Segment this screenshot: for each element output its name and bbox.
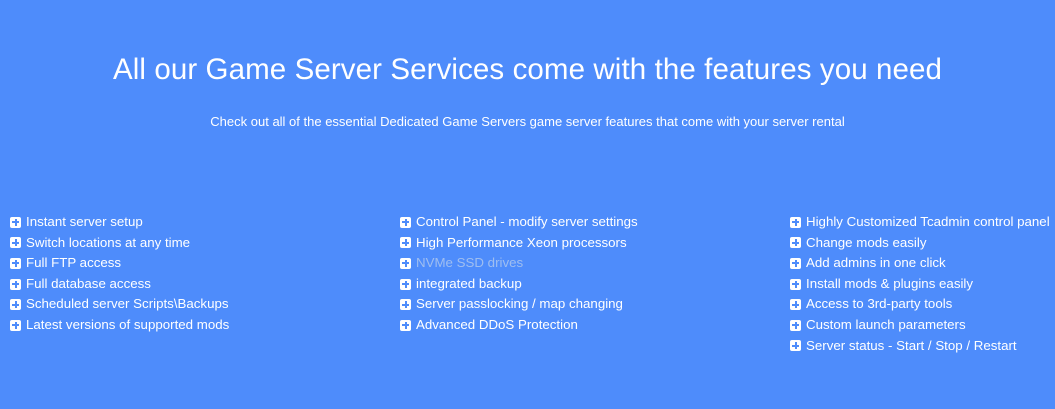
feature-column-1: Instant server setupSwitch locations at … [10, 212, 390, 336]
plus-square-icon [790, 320, 801, 331]
plus-square-icon [790, 340, 801, 351]
feature-item-label: Server status - Start / Stop / Restart [806, 336, 1017, 357]
game-server-features-panel: All our Game Server Services come with t… [0, 0, 1055, 409]
plus-square-icon [10, 320, 21, 331]
plus-square-icon [400, 299, 411, 310]
plus-square-icon [400, 279, 411, 290]
feature-item-label: Install mods & plugins easily [806, 274, 973, 295]
feature-item[interactable]: Latest versions of supported mods [10, 315, 390, 336]
feature-item[interactable]: Add admins in one click [790, 253, 1055, 274]
feature-item-label: Latest versions of supported mods [26, 315, 229, 336]
feature-column-2: Control Panel - modify server settingsHi… [400, 212, 780, 336]
feature-item[interactable]: Advanced DDoS Protection [400, 315, 780, 336]
feature-item-label: Advanced DDoS Protection [416, 315, 578, 336]
feature-item[interactable]: Install mods & plugins easily [790, 274, 1055, 295]
plus-square-icon [790, 258, 801, 269]
plus-square-icon [10, 237, 21, 248]
feature-item-label: Switch locations at any time [26, 233, 190, 254]
page-title: All our Game Server Services come with t… [0, 50, 1055, 90]
plus-square-icon [790, 279, 801, 290]
feature-item[interactable]: Custom launch parameters [790, 315, 1055, 336]
feature-item-label: Custom launch parameters [806, 315, 966, 336]
feature-item-label: Scheduled server Scripts\Backups [26, 294, 229, 315]
feature-item[interactable]: Scheduled server Scripts\Backups [10, 294, 390, 315]
plus-square-icon [10, 217, 21, 228]
feature-item[interactable]: Server status - Start / Stop / Restart [790, 336, 1055, 357]
plus-square-icon [790, 299, 801, 310]
feature-item[interactable]: integrated backup [400, 274, 780, 295]
plus-square-icon [10, 279, 21, 290]
feature-item-label: Change mods easily [806, 233, 926, 254]
feature-item[interactable]: Full database access [10, 274, 390, 295]
plus-square-icon [400, 320, 411, 331]
plus-square-icon [400, 237, 411, 248]
feature-item-label: Instant server setup [26, 212, 143, 233]
feature-item-label: Server passlocking / map changing [416, 294, 623, 315]
feature-item-label: Full FTP access [26, 253, 121, 274]
feature-item-label: Access to 3rd-party tools [806, 294, 952, 315]
feature-item[interactable]: Highly Customized Tcadmin control panel [790, 212, 1055, 233]
plus-square-icon [400, 217, 411, 228]
feature-item[interactable]: Access to 3rd-party tools [790, 294, 1055, 315]
feature-item[interactable]: NVMe SSD drives [400, 253, 780, 274]
plus-square-icon [790, 237, 801, 248]
plus-square-icon [400, 258, 411, 269]
feature-item[interactable]: Change mods easily [790, 233, 1055, 254]
feature-item-label: integrated backup [416, 274, 522, 295]
plus-square-icon [790, 217, 801, 228]
feature-item[interactable]: Server passlocking / map changing [400, 294, 780, 315]
plus-square-icon [10, 258, 21, 269]
feature-column-3: Highly Customized Tcadmin control panelC… [790, 212, 1055, 356]
plus-square-icon [10, 299, 21, 310]
feature-item-label: Add admins in one click [806, 253, 946, 274]
feature-item-label: Control Panel - modify server settings [416, 212, 638, 233]
feature-item-label: Highly Customized Tcadmin control panel [806, 212, 1050, 233]
feature-item[interactable]: Switch locations at any time [10, 233, 390, 254]
page-subtitle: Check out all of the essential Dedicated… [0, 113, 1055, 130]
feature-item[interactable]: Full FTP access [10, 253, 390, 274]
feature-item[interactable]: Control Panel - modify server settings [400, 212, 780, 233]
feature-item[interactable]: High Performance Xeon processors [400, 233, 780, 254]
feature-columns: Instant server setupSwitch locations at … [0, 212, 1055, 372]
feature-item-label: Full database access [26, 274, 151, 295]
feature-item[interactable]: Instant server setup [10, 212, 390, 233]
feature-item-label: High Performance Xeon processors [416, 233, 627, 254]
feature-item-label: NVMe SSD drives [416, 253, 523, 274]
